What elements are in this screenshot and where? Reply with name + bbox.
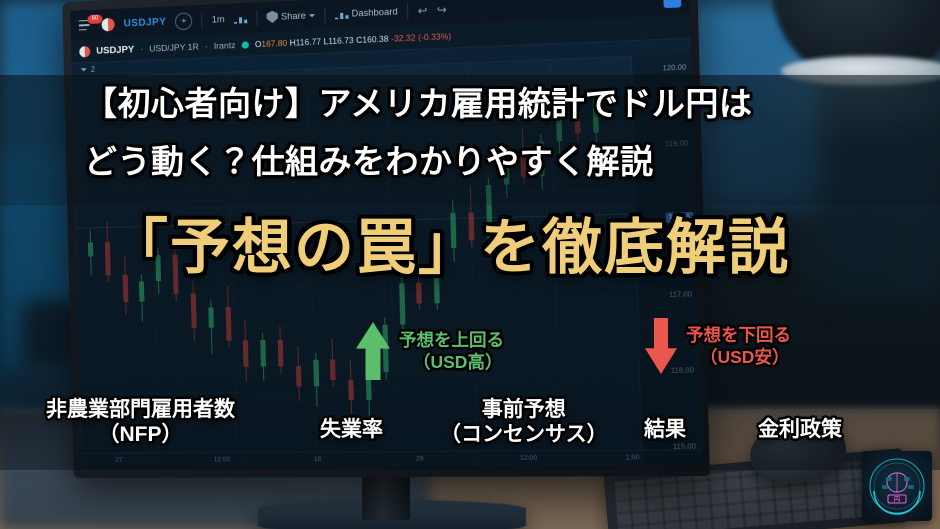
ohlc-c-value: 160.38 [362, 34, 389, 44]
logo-emblem-icon: 円 [862, 451, 932, 521]
toolbar-divider-1 [202, 12, 203, 27]
keyword-unemployment: 失業率 [320, 418, 383, 443]
keyword-forecast: 事前予想 （コンセンサス） [440, 398, 608, 448]
keyword-result: 結果 [644, 418, 686, 443]
bar-chart-icon [335, 8, 349, 20]
keyword-forecast-line2: （コンセンサス） [440, 423, 608, 448]
infobar-separator-2: · [205, 41, 208, 51]
dashboard-button[interactable]: Dashboard [335, 6, 398, 20]
dashboard-label: Dashboard [351, 6, 397, 18]
ohlc-readout: O167.80 H116.77 L116.73 C160.38 -32.32 (… [255, 31, 452, 48]
infobar-separator-1: · [140, 44, 143, 54]
headline: 「予想の罠」を徹底解説 [108, 218, 790, 278]
callout-up-line2: （USD高） [399, 351, 504, 373]
keyword-nfp-line1: 非農業部門雇用者数 [46, 398, 235, 423]
ohlc-change: -32.32 [391, 33, 416, 43]
svg-text:円: 円 [894, 497, 900, 504]
arrow-up-icon [356, 322, 390, 380]
pair-symbol[interactable]: USDJPY [96, 44, 134, 57]
data-source: Irantz [214, 40, 236, 51]
toolbar-divider-3 [324, 7, 325, 22]
callout-above-forecast-text: 予想を上回る （USD高） [399, 329, 504, 374]
live-status-dot [242, 41, 249, 48]
chevron-down-icon-depth[interactable] [81, 68, 87, 71]
interval-button[interactable]: 1m [212, 14, 225, 25]
pair-icon [79, 46, 90, 57]
share-button[interactable]: Share [266, 9, 315, 23]
pair-description: USD/JPY 1R [149, 41, 199, 53]
arrow-down-icon [645, 318, 677, 374]
keyword-forecast-line1: 事前予想 [440, 398, 608, 423]
depth-value: 2 [91, 65, 96, 74]
keyword-policy: 金利政策 [758, 418, 842, 443]
callout-down-line2: （USD安） [686, 346, 791, 368]
symbol-icon [101, 17, 114, 31]
primary-action-button[interactable] [663, 0, 681, 8]
undo-icon[interactable]: ↩ [418, 3, 428, 17]
ohlc-o-value: 167.80 [261, 38, 287, 48]
callout-above-forecast: 予想を上回る （USD高） [356, 322, 504, 380]
keyword-policy-line1: 金利政策 [758, 418, 842, 443]
channel-logo-badge: 円 [862, 451, 932, 521]
callout-below-forecast: 予想を下回る （USD安） [645, 318, 791, 374]
monitor-stand-neck [362, 472, 410, 520]
toolbar-divider-2 [256, 10, 257, 25]
toolbar-divider-4 [407, 3, 408, 18]
thumbnail-canvas: 60 USDJPY + 1m Share [0, 0, 940, 529]
ohlc-change-pct: (-0.33%) [418, 31, 452, 42]
keyword-nfp-line2: （NFP） [46, 423, 235, 448]
callout-down-line1: 予想を下回る [686, 325, 791, 345]
notification-badge: 60 [87, 14, 102, 24]
title-line-1: 【初心者向け】アメリカ雇用統計でドル円は [84, 84, 752, 124]
keyword-result-line1: 結果 [644, 418, 686, 443]
add-symbol-icon[interactable]: + [175, 12, 193, 30]
ohlc-h-value: 116.77 [296, 37, 322, 47]
redo-icon[interactable]: ↪ [437, 3, 447, 17]
candles-icon[interactable] [234, 12, 248, 24]
keyword-unemployment-line1: 失業率 [320, 418, 383, 443]
price-tick: 120.00 [662, 64, 686, 72]
shield-icon [266, 11, 278, 24]
callout-below-forecast-text: 予想を下回る （USD安） [686, 324, 791, 369]
callout-up-line1: 予想を上回る [399, 330, 504, 350]
keyword-nfp: 非農業部門雇用者数 （NFP） [46, 398, 235, 448]
title-line-2: どう動く？仕組みをわかりやすく解説 [84, 142, 654, 182]
ohlc-l-value: 116.73 [328, 35, 354, 45]
menu-icon[interactable]: 60 [79, 19, 93, 31]
share-label: Share [281, 10, 306, 21]
chevron-down-icon [309, 14, 315, 17]
symbol-label[interactable]: USDJPY [123, 16, 166, 29]
